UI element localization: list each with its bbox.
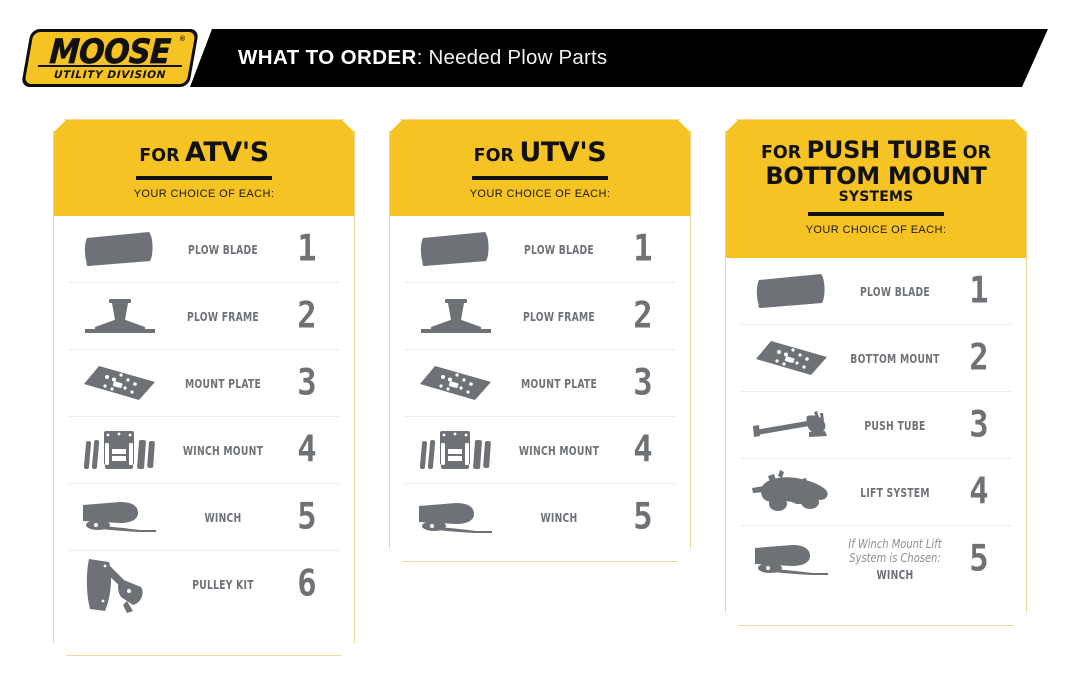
card-utv-title-main: UTV'S (519, 137, 606, 168)
list-item-number: 5 (616, 499, 669, 536)
list-item-label: PLOW BLADE (850, 284, 940, 299)
list-item-label: BOTTOM MOUNT (850, 351, 940, 366)
card-atv-title-main: ATV'S (185, 137, 269, 168)
list-item-number: 3 (280, 365, 333, 402)
card-push-tube-title-pre: FOR (761, 143, 801, 163)
card-push-tube-title-line2: BOTTOM MOUNT (726, 164, 1026, 190)
card-push-tube-header: FOR PUSH TUBE OR BOTTOM MOUNT SYSTEMS YO… (726, 120, 1026, 258)
card-utv-subtitle: YOUR CHOICE OF EACH: (390, 188, 690, 200)
list-item-number: 1 (280, 231, 333, 268)
page-header: MOOSE ® UTILITY DIVISION WHAT TO ORDER: … (0, 0, 1080, 100)
winch-icon (408, 484, 504, 551)
card-atv-title-pre: FOR (139, 146, 179, 166)
list-item-label: LIFT SYSTEM (850, 485, 940, 500)
winch-mount-icon (72, 417, 168, 483)
winch-icon (72, 484, 168, 550)
list-item-label: WINCH MOUNT (178, 443, 268, 458)
card-atv-rule (136, 176, 272, 180)
list-item-label: MOUNT PLATE (178, 376, 268, 391)
list-item-number: 1 (616, 231, 669, 268)
list-item-label: PULLEY KIT (178, 577, 268, 592)
list-item-label: PLOW FRAME (514, 309, 604, 324)
winch-mount-icon (408, 417, 504, 483)
list-item-label: If Winch Mount Lift System is Chosen: WI… (850, 537, 940, 583)
list-item-number: 1 (952, 273, 1005, 310)
list-item-number: 4 (952, 474, 1005, 511)
list-item-label: WINCH MOUNT (514, 443, 604, 458)
page-title-strong: WHAT TO ORDER (238, 46, 417, 69)
card-push-tube-title: FOR PUSH TUBE OR BOTTOM MOUNT SYSTEMS (726, 138, 1026, 205)
logo-subtitle: UTILITY DIVISION (26, 69, 195, 81)
winch-icon (744, 526, 840, 593)
list-item[interactable]: PULLEY KIT 6 (68, 551, 340, 618)
list-item[interactable]: PLOW BLADE 1 (68, 216, 340, 283)
page-title-light: : Needed Plow Parts (417, 46, 608, 69)
card-push-tube-title-main: PUSH TUBE (807, 136, 958, 164)
card-utv-rows: PLOW BLADE 1 PLOW FRAME 2 MOUNT PLATE 3 … (390, 216, 690, 551)
card-utv-header: FOR UTV'S YOUR CHOICE OF EACH: (390, 120, 690, 216)
list-item[interactable]: PLOW BLADE 1 (740, 258, 1012, 325)
list-item[interactable]: MOUNT PLATE 3 (404, 350, 676, 417)
logo-registered-mark: ® (180, 36, 185, 43)
list-item[interactable]: WINCH MOUNT 4 (404, 417, 676, 484)
list-item-note: If Winch Mount Lift System is Chosen: (844, 537, 945, 566)
card-utv-rule (472, 176, 608, 180)
list-item[interactable]: PLOW BLADE 1 (404, 216, 676, 283)
list-item-number: 2 (616, 298, 669, 335)
list-item-number: 3 (616, 365, 669, 402)
moose-utility-division-logo: MOOSE ® UTILITY DIVISION (26, 29, 194, 87)
card-push-tube-title-line1: FOR PUSH TUBE OR (726, 138, 1026, 164)
list-item-number: 6 (280, 566, 333, 603)
list-item[interactable]: PLOW FRAME 2 (68, 283, 340, 350)
list-item-number: 2 (952, 340, 1005, 377)
list-item[interactable]: BOTTOM MOUNT 2 (740, 325, 1012, 392)
plow-blade-icon (72, 216, 168, 282)
plow-frame-icon (72, 283, 168, 349)
list-item-number: 4 (280, 432, 333, 469)
lift-system-icon (744, 459, 840, 525)
card-push-tube-rule (808, 212, 944, 216)
card-atv-header: FOR ATV'S YOUR CHOICE OF EACH: (54, 120, 354, 216)
plow-blade-icon (744, 258, 840, 324)
card-push-tube-subtitle: YOUR CHOICE OF EACH: (726, 224, 1026, 236)
page-title: WHAT TO ORDER: Needed Plow Parts (238, 46, 607, 70)
list-item[interactable]: PLOW FRAME 2 (404, 283, 676, 350)
card-push-tube-rows: PLOW BLADE 1 BOTTOM MOUNT 2 PUSH TUBE 3 … (726, 258, 1026, 593)
list-item-label: MOUNT PLATE (514, 376, 604, 391)
card-utv-title: FOR UTV'S (390, 138, 690, 167)
pulley-kit-icon (72, 551, 168, 618)
list-item-label: PLOW BLADE (514, 242, 604, 257)
list-item-label: WINCH (178, 510, 268, 525)
list-item[interactable]: WINCH MOUNT 4 (68, 417, 340, 484)
list-item-label: PLOW FRAME (178, 309, 268, 324)
push-tube-icon (744, 392, 840, 458)
card-push-tube-title-conj: OR (963, 143, 991, 163)
card-utv-title-pre: FOR (474, 146, 514, 166)
card-atv: FOR ATV'S YOUR CHOICE OF EACH: PLOW BLAD… (53, 119, 355, 656)
mount-plate-icon (408, 350, 504, 416)
plow-frame-icon (408, 283, 504, 349)
list-item[interactable]: WINCH 5 (68, 484, 340, 551)
bottom-mount-icon (744, 325, 840, 391)
list-item-number: 5 (280, 499, 333, 536)
list-item-label: PUSH TUBE (850, 418, 940, 433)
card-atv-title: FOR ATV'S (54, 138, 354, 167)
plow-blade-icon (408, 216, 504, 282)
mount-plate-icon (72, 350, 168, 416)
card-atv-subtitle: YOUR CHOICE OF EACH: (54, 188, 354, 200)
list-item-number: 2 (280, 298, 333, 335)
list-item[interactable]: WINCH 5 (404, 484, 676, 551)
list-item-label: WINCH (514, 510, 604, 525)
card-push-tube: FOR PUSH TUBE OR BOTTOM MOUNT SYSTEMS YO… (725, 119, 1027, 626)
list-item-label-text: WINCH (876, 567, 913, 582)
list-item[interactable]: If Winch Mount Lift System is Chosen: WI… (740, 526, 1012, 593)
list-item[interactable]: MOUNT PLATE 3 (68, 350, 340, 417)
list-item[interactable]: PUSH TUBE 3 (740, 392, 1012, 459)
card-push-tube-title-line3: SYSTEMS (726, 190, 1026, 205)
logo-divider (38, 65, 182, 67)
list-item-label: PLOW BLADE (178, 242, 268, 257)
list-item[interactable]: LIFT SYSTEM 4 (740, 459, 1012, 526)
list-item-number: 4 (616, 432, 669, 469)
list-item-number: 5 (952, 541, 1005, 578)
card-atv-rows: PLOW BLADE 1 PLOW FRAME 2 MOUNT PLATE 3 … (54, 216, 354, 618)
card-utv: FOR UTV'S YOUR CHOICE OF EACH: PLOW BLAD… (389, 119, 691, 562)
list-item-number: 3 (952, 407, 1005, 444)
